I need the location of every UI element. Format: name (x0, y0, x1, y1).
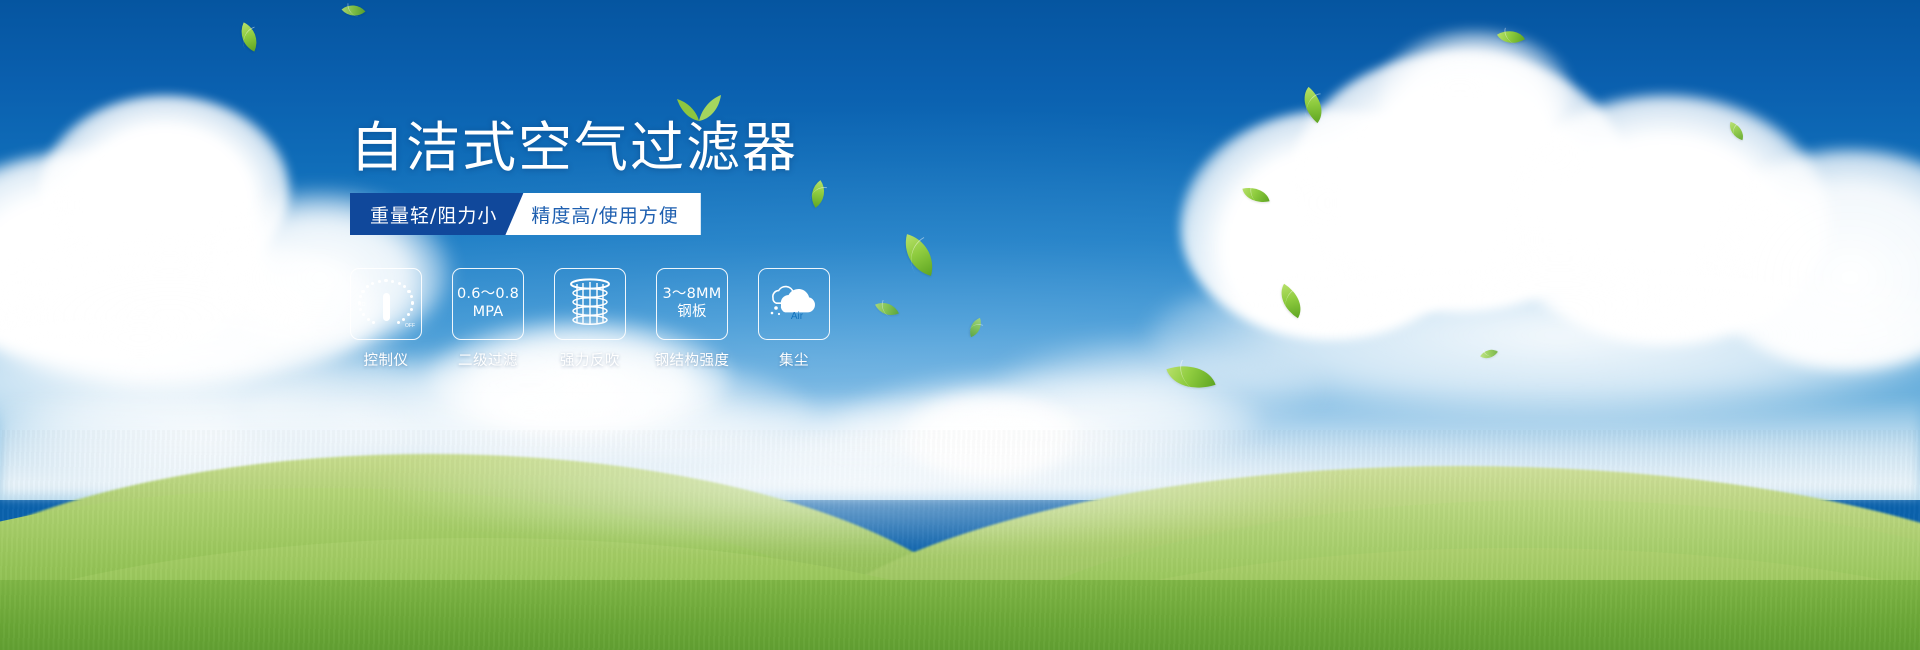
pressure-unit: MPA (473, 304, 504, 322)
feature-item-dust-collection[interactable]: Air 集尘 (758, 268, 830, 370)
filter-cartridge-icon (567, 278, 613, 330)
dust-icon-air-text: Air (791, 311, 804, 322)
feature-item-controller[interactable]: NO OFF 控制仪 (350, 268, 422, 370)
feature-item-steel-strength[interactable]: 3～8MM 钢板 钢结构强度 (656, 268, 728, 370)
tag-highprecision-easyuse[interactable]: 精度高/使用方便 (505, 193, 700, 235)
steel-thickness: 3～8MM (663, 286, 722, 304)
dust-cloud-air-icon: Air (767, 281, 821, 327)
feature-label-two-stage-filter: 二级过滤 (458, 349, 518, 370)
feature-box-controller: NO OFF (350, 268, 422, 340)
steel-material: 钢板 (677, 304, 706, 322)
banner-content: 自洁式空气过滤器 重量轻/阻力小 精度高/使用方便 (0, 0, 1920, 650)
feature-item-backblow[interactable]: 强力反吹 (554, 268, 626, 370)
gauge-label-off: OFF (405, 323, 415, 329)
feature-box-dust: Air (758, 268, 830, 340)
feature-box-pressure: 0.6～0.8 MPA (452, 268, 524, 340)
product-banner: 自洁式空气过滤器 重量轻/阻力小 精度高/使用方便 (0, 0, 1920, 650)
gauge-controller-icon: NO OFF (359, 277, 413, 331)
tag-lightweight-lowresistance[interactable]: 重量轻/阻力小 (350, 193, 523, 235)
pressure-value: 0.6～0.8 (457, 286, 519, 304)
gauge-label-no: NO (358, 302, 366, 308)
page-title: 自洁式空气过滤器 (350, 118, 798, 178)
feature-icon-row: NO OFF 控制仪 0.6～0.8 MPA 二级过滤 (350, 268, 830, 370)
feature-label-dust-collection: 集尘 (779, 349, 809, 370)
feature-label-steel-strength: 钢结构强度 (655, 349, 730, 370)
feature-label-controller: 控制仪 (364, 349, 409, 370)
feature-box-steel: 3～8MM 钢板 (656, 268, 728, 340)
feature-tag-strip: 重量轻/阻力小 精度高/使用方便 (350, 193, 701, 235)
feature-label-backblow: 强力反吹 (560, 349, 620, 370)
feature-box-cartridge (554, 268, 626, 340)
feature-item-two-stage-filter[interactable]: 0.6～0.8 MPA 二级过滤 (452, 268, 524, 370)
gauge-needle (383, 293, 390, 321)
